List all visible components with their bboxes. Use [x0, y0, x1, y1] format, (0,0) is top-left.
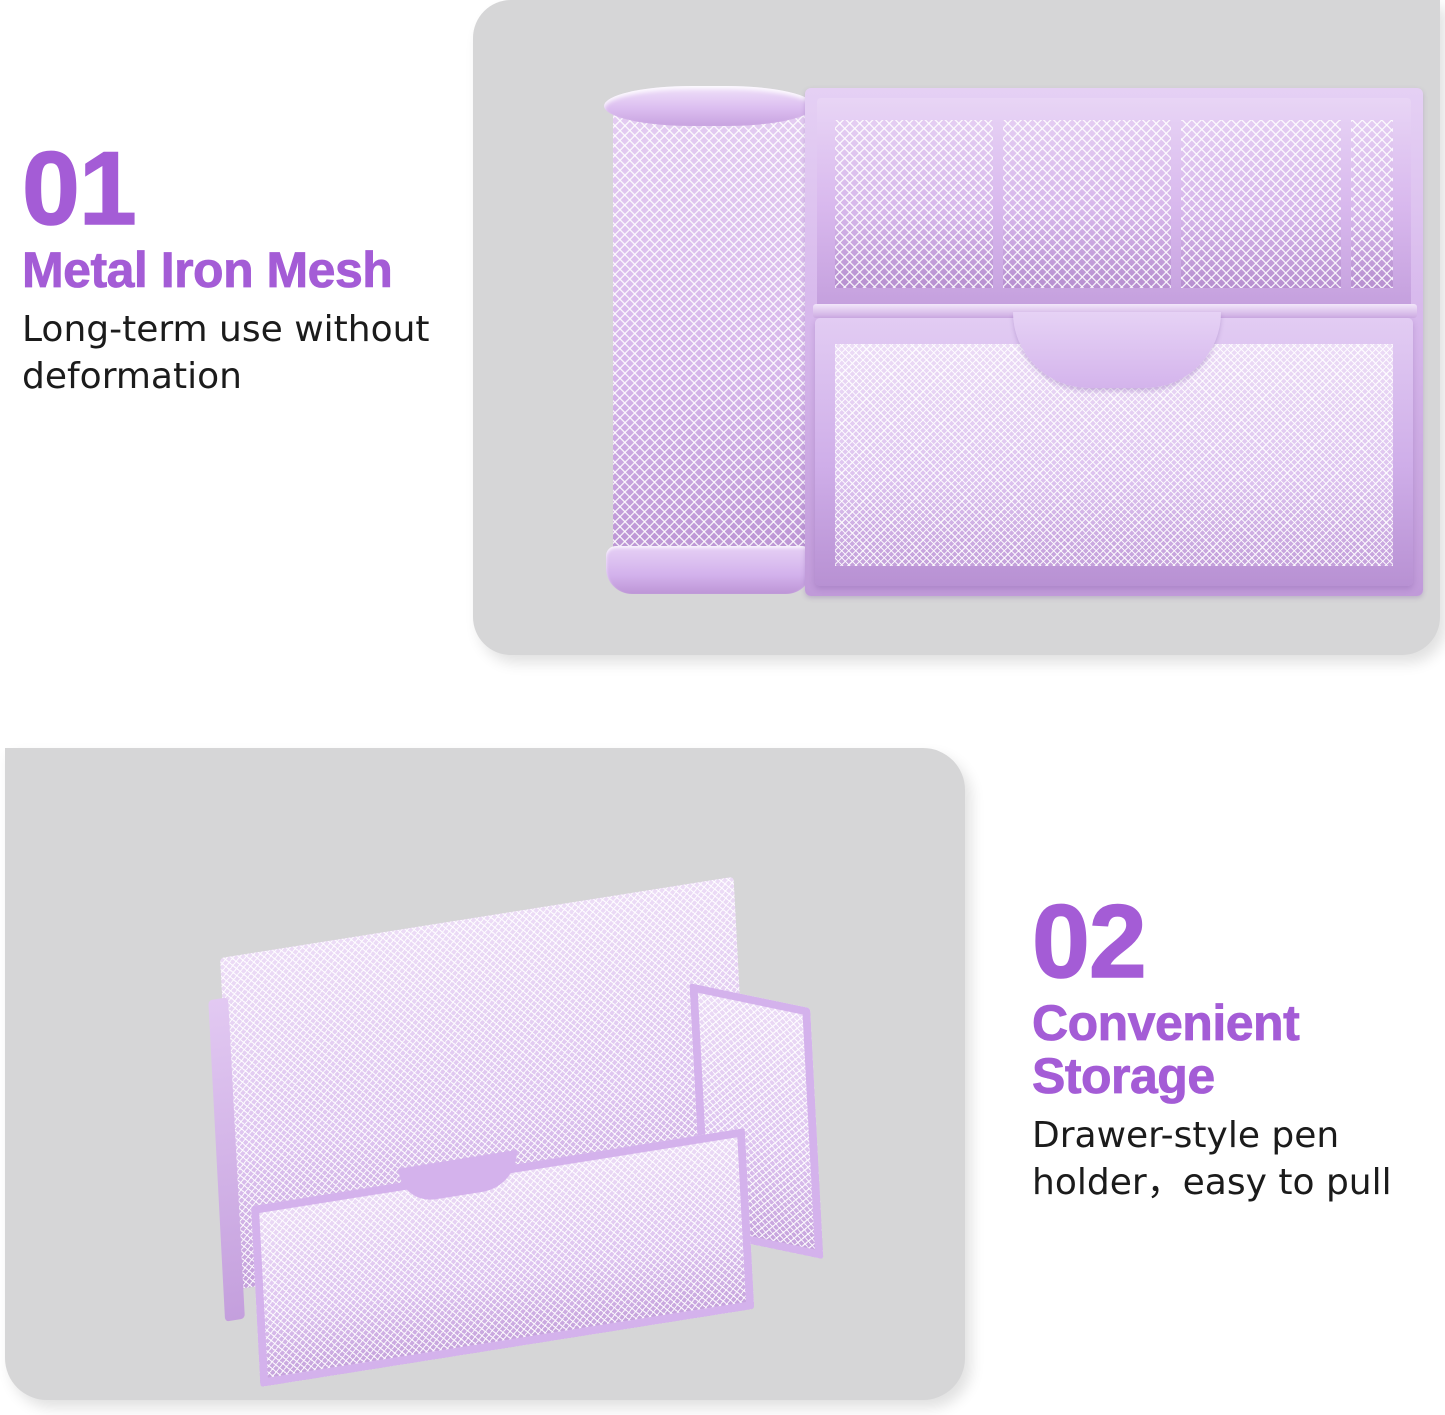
feature-title-two: Convenient Storage — [1032, 997, 1432, 1103]
top-compartment-4 — [1351, 120, 1393, 288]
product-photo-panel-one — [473, 0, 1440, 655]
feature-title-one: Metal Iron Mesh — [22, 244, 452, 297]
feature-description-two: Drawer-style pen holder，easy to pull — [1032, 1113, 1432, 1207]
feature-number-one: 01 — [22, 140, 452, 240]
product-photo-panel-two — [5, 748, 965, 1400]
feature-block-one: 01 Metal Iron Mesh Long-term use without… — [22, 140, 452, 400]
feature-number-two: 02 — [1032, 893, 1432, 993]
pen-cup-base — [606, 546, 812, 594]
top-compartment-1 — [835, 120, 993, 288]
drawer-front-closed — [815, 318, 1413, 586]
top-compartment-frame — [817, 98, 1411, 310]
pen-cup-rim — [604, 86, 814, 126]
drawer-open — [220, 870, 795, 1379]
top-compartment-3 — [1181, 120, 1341, 288]
feature-description-one: Long-term use without deformation — [22, 307, 452, 401]
pen-cup-mesh-body — [613, 100, 805, 590]
feature-block-two: 02 Convenient Storage Drawer-style pen h… — [1032, 893, 1432, 1206]
top-compartment-2 — [1003, 120, 1171, 288]
